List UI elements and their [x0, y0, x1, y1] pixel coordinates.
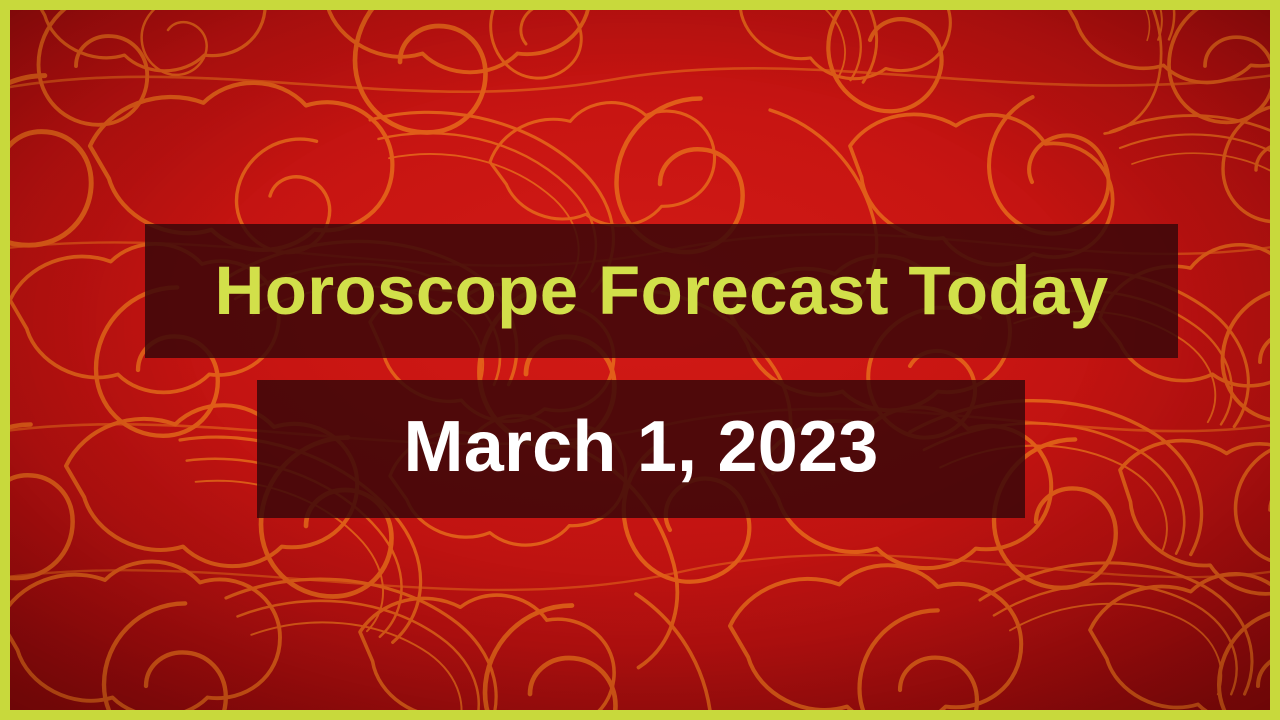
- date-subtitle: March 1, 2023: [398, 411, 885, 483]
- title-band: Horoscope Forecast Today: [145, 224, 1178, 358]
- chinese-cloud-swirl-pattern: [10, 10, 1270, 710]
- red-background-canvas: [10, 10, 1270, 710]
- horoscope-banner-slide: Horoscope Forecast Today March 1, 2023: [0, 0, 1280, 720]
- page-title: Horoscope Forecast Today: [208, 256, 1114, 325]
- subtitle-band: March 1, 2023: [257, 380, 1025, 518]
